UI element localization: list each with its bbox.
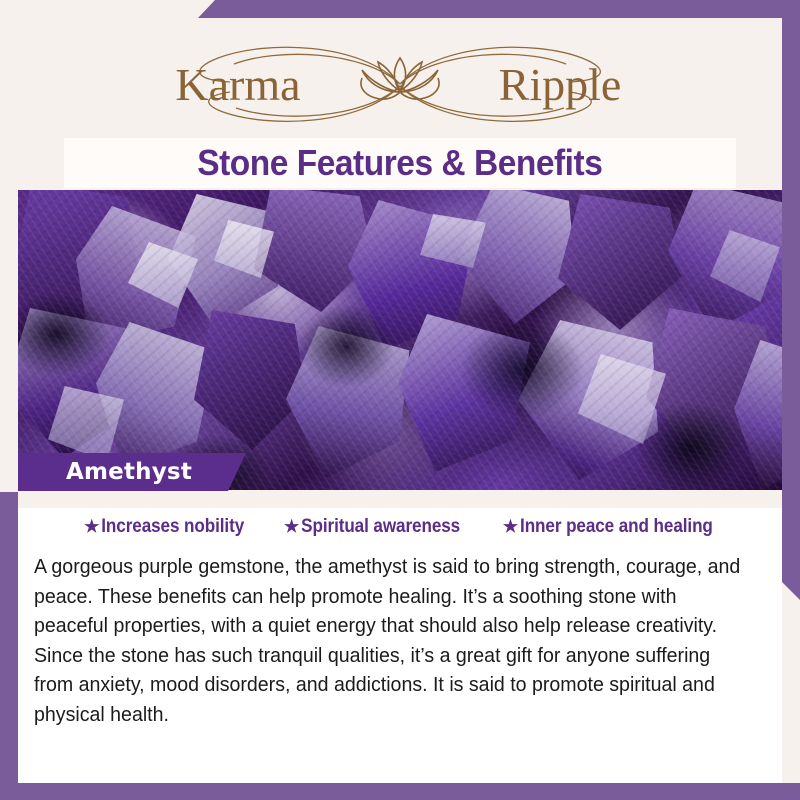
benefits-list: ★ Increases nobility ★ Spiritual awarene… bbox=[18, 516, 782, 538]
stone-description: A gorgeous purple gemstone, the amethyst… bbox=[34, 552, 741, 729]
benefit-item-2: ★ Inner peace and healing bbox=[503, 516, 712, 538]
content-panel: ★ Increases nobility ★ Spiritual awarene… bbox=[18, 490, 782, 783]
page-title-bar: Stone Features & Benefits bbox=[64, 138, 736, 188]
frame-accent-bottom bbox=[0, 783, 800, 800]
karma-ripple-logo-svg: Karma Ripple bbox=[90, 34, 710, 134]
benefit-label: Inner peace and healing bbox=[520, 516, 713, 538]
star-icon: ★ bbox=[284, 518, 299, 535]
amethyst-photo bbox=[18, 190, 782, 490]
stone-name: Amethyst bbox=[66, 459, 192, 485]
stone-name-banner: Amethyst bbox=[18, 453, 246, 491]
star-icon: ★ bbox=[84, 518, 99, 535]
benefit-label: Spiritual awareness bbox=[301, 516, 460, 538]
brand-logo: Karma Ripple bbox=[18, 32, 782, 136]
frame-accent-right bbox=[782, 0, 800, 600]
photo-vignette bbox=[18, 190, 782, 490]
frame-accent-top bbox=[0, 0, 800, 18]
brand-name-left: Karma bbox=[175, 59, 300, 110]
benefit-item-0: ★ Increases nobility bbox=[85, 516, 244, 538]
page-title: Stone Features & Benefits bbox=[197, 142, 602, 184]
benefit-label: Increases nobility bbox=[101, 516, 244, 538]
product-infographic-canvas: Karma Ripple Stone Features & Benefits bbox=[0, 0, 800, 800]
star-icon: ★ bbox=[503, 518, 518, 535]
panel-top-strip bbox=[18, 490, 782, 508]
brand-name-right: Ripple bbox=[499, 59, 622, 110]
benefit-item-1: ★ Spiritual awareness bbox=[285, 516, 460, 538]
frame-accent-left bbox=[0, 492, 18, 800]
